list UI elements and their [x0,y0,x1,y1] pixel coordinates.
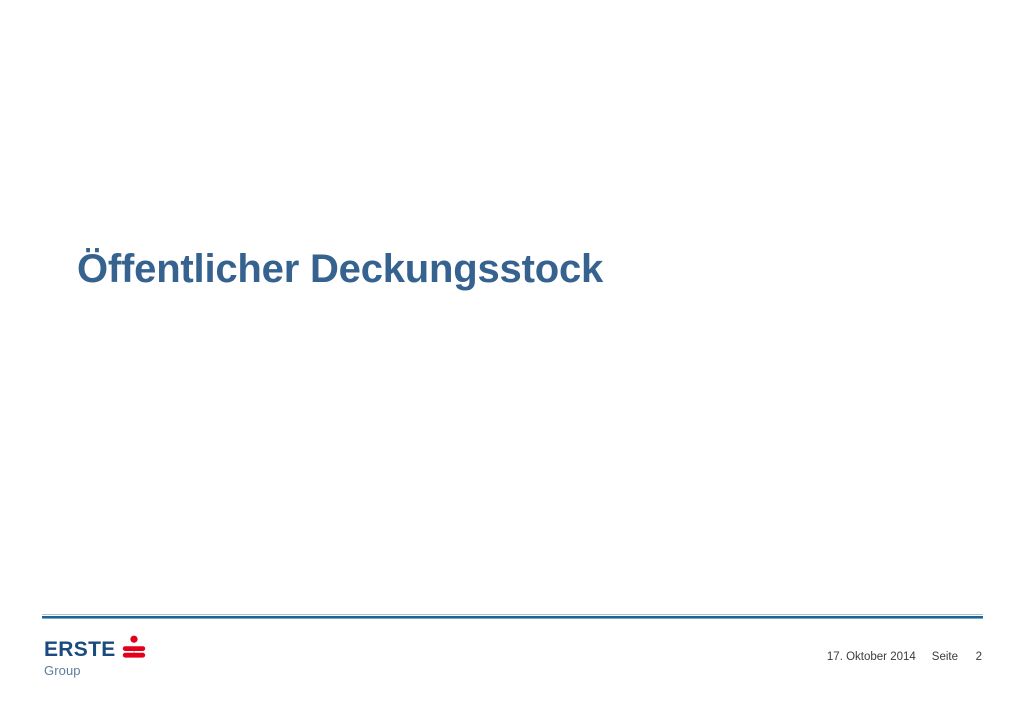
sparkasse-s-icon [122,635,146,663]
logo-wordmark-text: ERSTE [44,639,116,660]
page-title: Öffentlicher Deckungsstock [77,245,937,293]
footer-divider-shadow [42,618,983,619]
logo-subtext: Group [44,663,154,678]
footer-page-number: 2 [974,650,982,664]
logo-wordmark-row: ERSTE [44,639,154,661]
slide-canvas: Öffentlicher Deckungsstock ERSTE Group 1… [0,0,1024,709]
footer-divider-highlight [42,614,983,615]
erste-group-logo: ERSTE Group [44,639,154,683]
footer-page-label: Seite [932,650,958,664]
footer-meta: 17. Oktober 2014 Seite 2 [827,650,982,664]
footer-date: 17. Oktober 2014 [827,650,916,664]
